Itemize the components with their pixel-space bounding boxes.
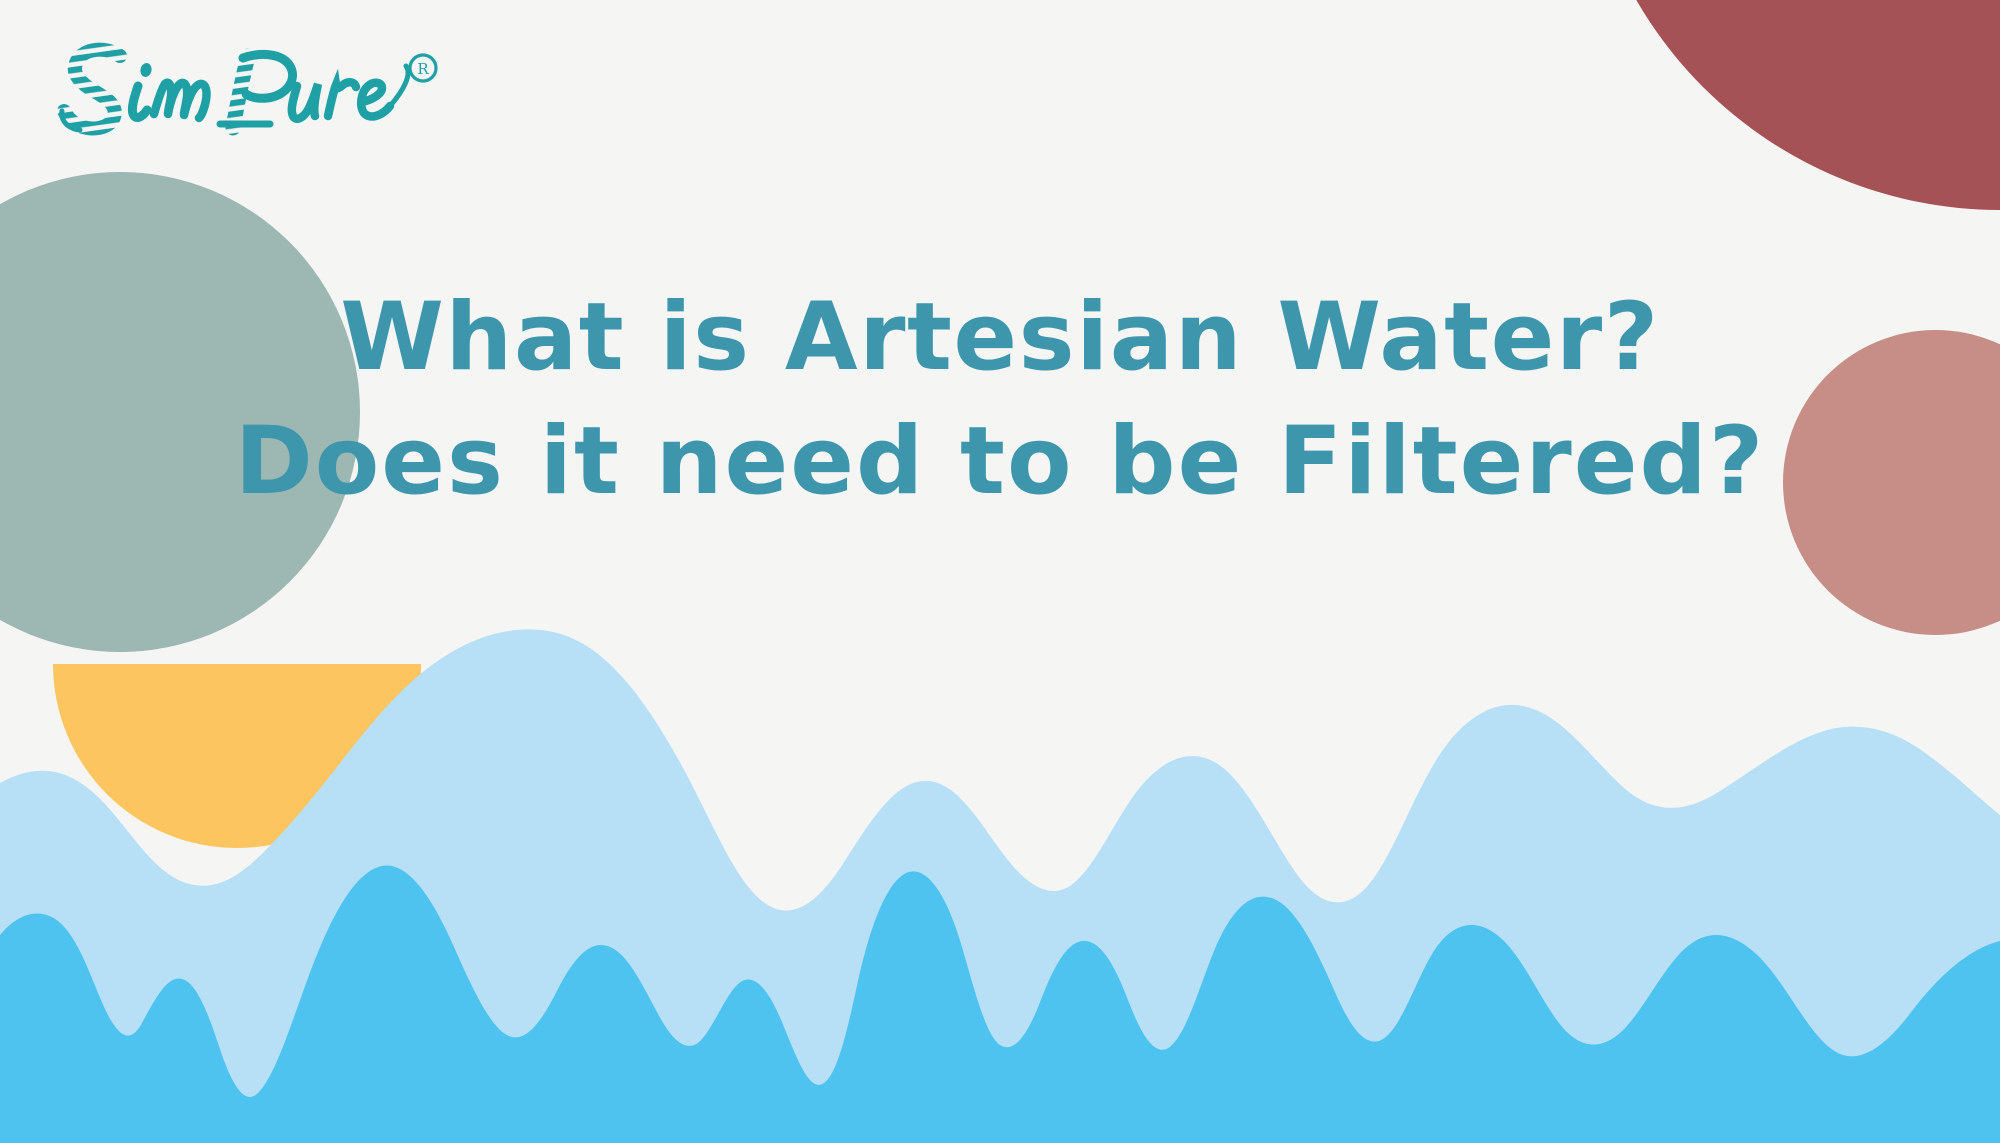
simpure-wordmark-glyphs (62, 50, 408, 130)
registered-trademark-icon: R (410, 55, 436, 81)
water-waves-decoration (0, 583, 2000, 1143)
svg-text:R: R (417, 60, 429, 78)
article-header-banner: R What is Artesian Water? Does it need t… (0, 0, 2000, 1143)
sage-green-circle-decoration (0, 172, 360, 652)
simpure-logo[interactable]: R (34, 28, 454, 153)
brick-red-quarter-circle-decoration (1580, 0, 2000, 210)
